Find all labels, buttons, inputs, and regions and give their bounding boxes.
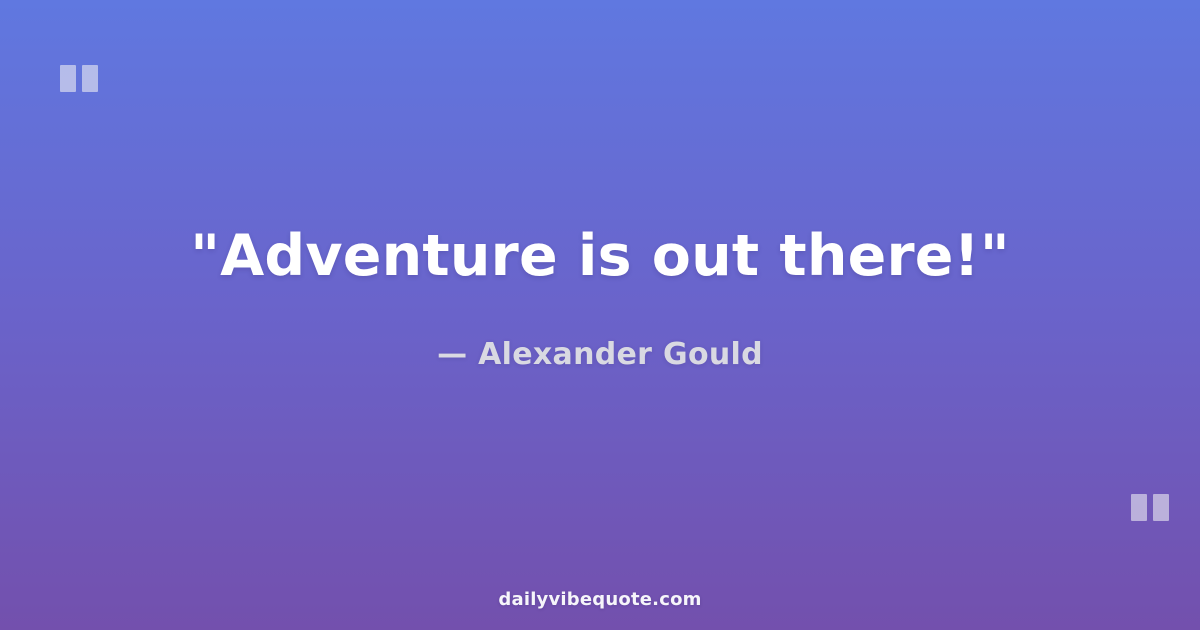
quote-mark-bar-right — [82, 65, 98, 92]
quote-text: "Adventure is out there!" — [190, 223, 1010, 289]
quote-card: "Adventure is out there!" — Alexander Go… — [0, 0, 1200, 630]
site-footer: dailyvibequote.com — [0, 589, 1200, 610]
close-quote-mark-icon — [1131, 494, 1169, 521]
site-name-watermark: dailyvibequote.com — [498, 589, 701, 610]
quote-content: "Adventure is out there!" — Alexander Go… — [70, 223, 1130, 373]
open-quote-mark-icon — [60, 65, 98, 92]
quote-attribution: — Alexander Gould — [437, 337, 763, 373]
quote-mark-bar-right — [1153, 494, 1169, 521]
quote-mark-bar-left — [1131, 494, 1147, 521]
quote-mark-bar-left — [60, 65, 76, 92]
